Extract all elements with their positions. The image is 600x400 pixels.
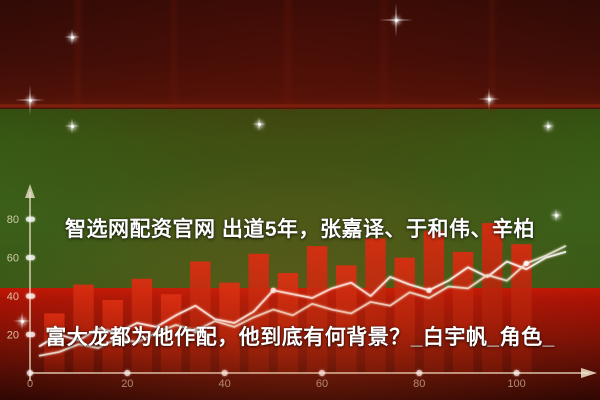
screenshot-canvas: 20406080020406080100 智选网配资官网 出道5年，张嘉译、于和…: [0, 0, 600, 400]
headline-line-2: 富大龙都为他作配，他到底有何背景？_白宇帆_角色_: [0, 320, 600, 356]
background-band-maroon: [0, 0, 600, 108]
headline-line-1: 智选网配资官网 出道5年，张嘉译、于和伟、辛柏: [0, 212, 600, 248]
headline-text: 智选网配资官网 出道5年，张嘉译、于和伟、辛柏 富大龙都为他作配，他到底有何背景…: [0, 140, 600, 400]
